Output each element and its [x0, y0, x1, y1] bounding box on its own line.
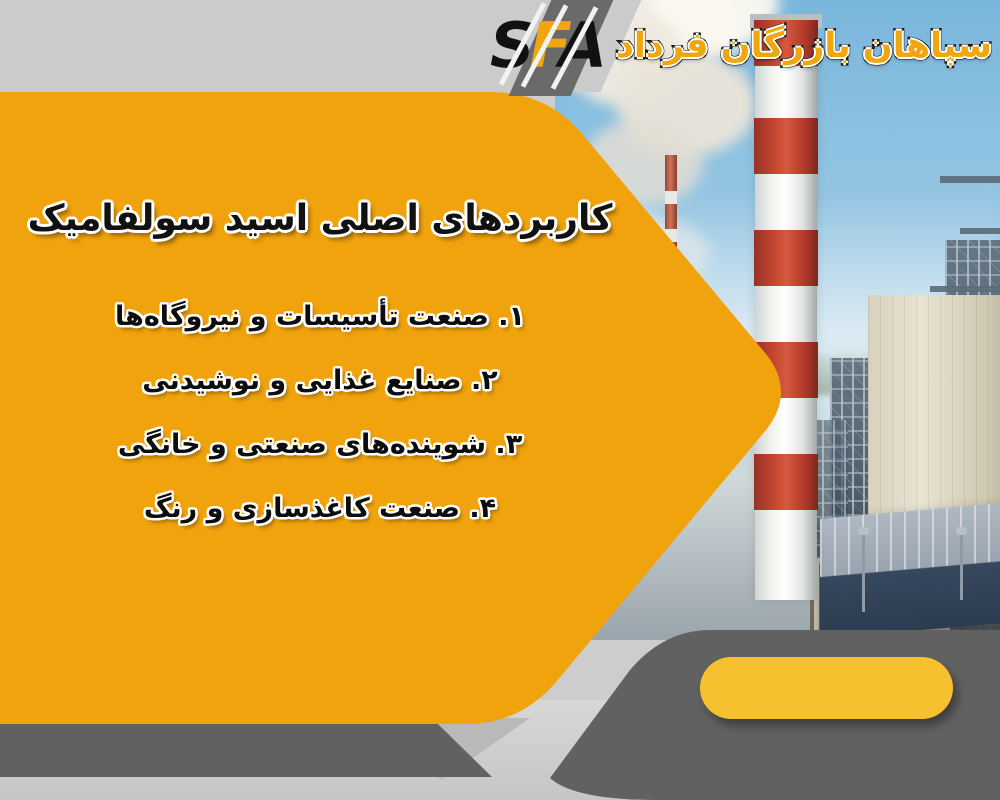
poster-canvas: کاربردهای اصلی اسید سولفامیک ۱. صنعت تأس… [0, 0, 1000, 800]
refinery-structures [810, 120, 1000, 640]
chimney-stripe [754, 454, 818, 510]
list-item: ۲. صنایع غذایی و نوشیدنی [0, 367, 640, 394]
cta-pill-button[interactable] [700, 657, 953, 719]
list-item: ۱. صنعت تأسیسات و نیروگاه‌ها [0, 303, 640, 330]
list-item: ۴. صنعت کاغذسازی و رنگ [0, 495, 640, 522]
page-title: کاربردهای اصلی اسید سولفامیک [28, 196, 613, 243]
light-pole [960, 534, 963, 600]
brand-name: سپاهان بازرگان فرداد [616, 29, 992, 64]
chimney-stripe [754, 118, 818, 174]
logo-letter-a: A [559, 9, 602, 82]
main-chimney [755, 40, 817, 600]
chimney-stripe [754, 230, 818, 286]
sfa-logo-icon[interactable]: SFA [480, 10, 612, 82]
brand-lockup[interactable]: سپاهان بازرگان فرداد SFA [480, 8, 992, 84]
applications-list: ۱. صنعت تأسیسات و نیروگاه‌ها ۲. صنایع غذ… [0, 303, 640, 522]
steel-beam [930, 286, 1000, 292]
light-pole [862, 534, 865, 612]
list-item: ۳. شوینده‌های صنعتی و خانگی [0, 431, 640, 458]
panel-content: کاربردهای اصلی اسید سولفامیک ۱. صنعت تأس… [0, 92, 640, 727]
steel-beam [960, 228, 1000, 234]
steel-beam [940, 176, 1000, 183]
blue-roof-shed [820, 497, 1000, 639]
